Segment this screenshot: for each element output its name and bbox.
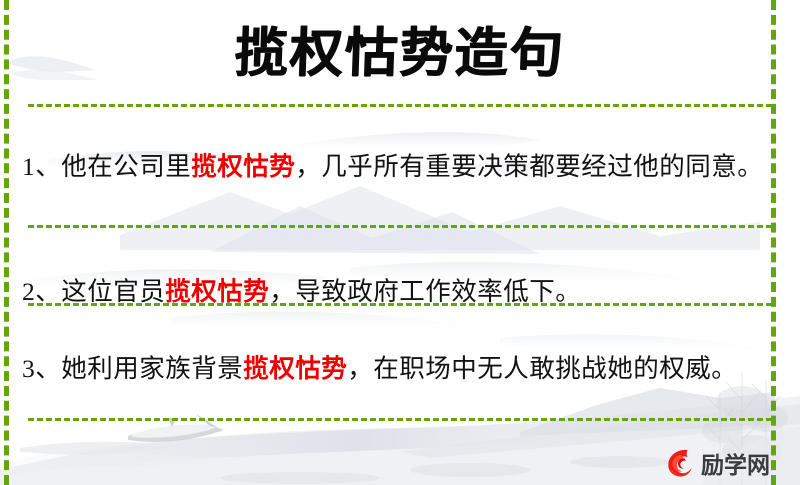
sentence-number: 3、 <box>22 354 61 383</box>
highlighted-keyword: 揽权怙势 <box>191 152 295 181</box>
flame-swoosh-icon <box>664 447 696 479</box>
page-root: 揽权怙势造句 1、他在公司里揽权怙势，几乎所有重要决策都要经过他的同意。 2、这… <box>0 0 800 485</box>
divider-1 <box>28 225 772 228</box>
sentence-text-before: 这位官员 <box>61 277 165 306</box>
divider-top <box>28 104 772 107</box>
highlighted-keyword: 揽权怙势 <box>165 277 269 306</box>
sentence-text-after: ，导致政府工作效率低下。 <box>269 277 581 306</box>
sentence-text-after: ，在职场中无人敢挑战她的权威。 <box>347 354 737 383</box>
page-title-container: 揽权怙势造句 <box>0 8 800 90</box>
brand-name: 励学网 <box>701 446 770 480</box>
brand-watermark[interactable]: 励学网 <box>664 446 770 480</box>
sentence-number: 2、 <box>22 277 61 306</box>
sentence-text-before: 她利用家族背景 <box>61 354 243 383</box>
sentence-item: 2、这位官员揽权怙势，导致政府工作效率低下。 <box>22 271 774 312</box>
sentence-item: 1、他在公司里揽权怙势，几乎所有重要决策都要经过他的同意。 <box>22 146 774 187</box>
divider-bottom <box>28 418 772 421</box>
sentence-text-before: 他在公司里 <box>61 152 191 181</box>
page-title: 揽权怙势造句 <box>234 11 567 87</box>
highlighted-keyword: 揽权怙势 <box>243 354 347 383</box>
sentence-text-after: ，几乎所有重要决策都要经过他的同意。 <box>295 152 763 181</box>
sentence-number: 1、 <box>22 152 61 181</box>
sentence-item: 3、她利用家族背景揽权怙势，在职场中无人敢挑战她的权威。 <box>22 348 774 389</box>
